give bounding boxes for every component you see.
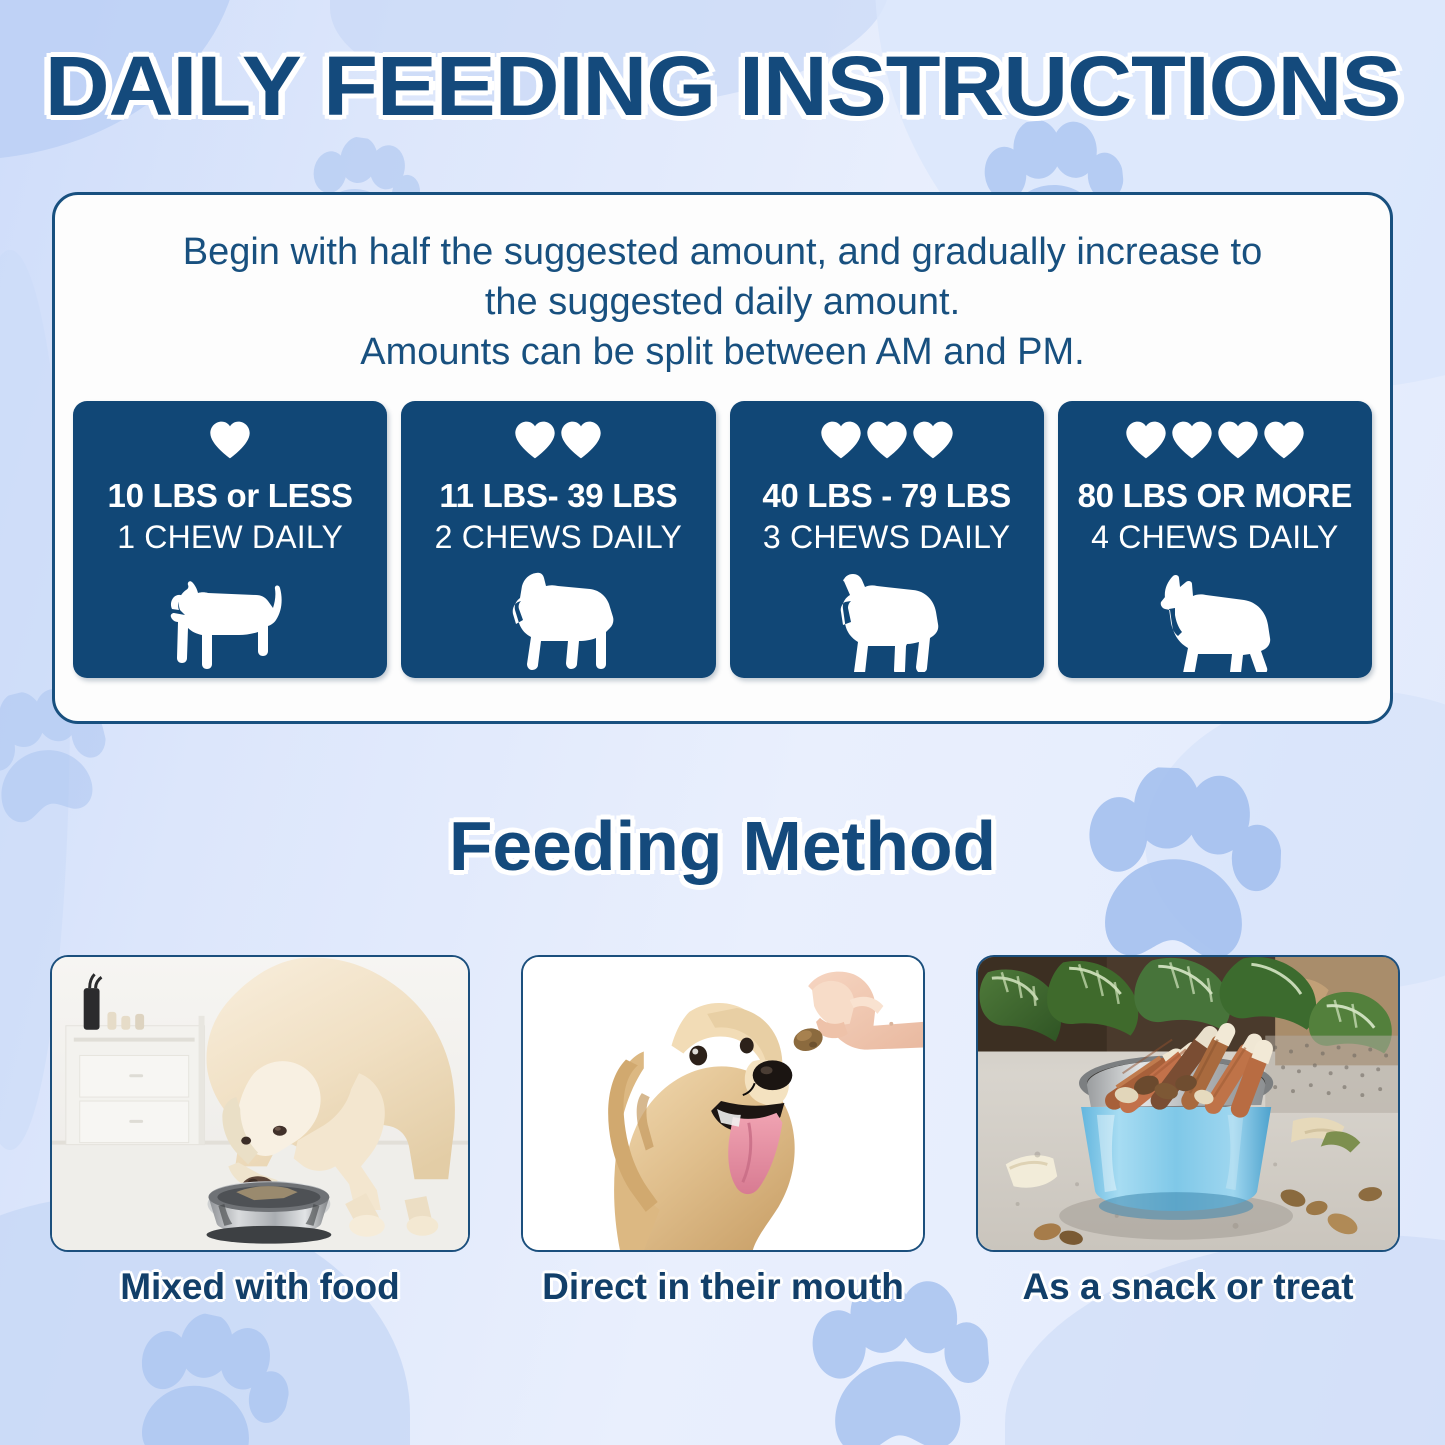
feeding-method-item: Direct in their mouth bbox=[521, 955, 925, 1308]
heart-icon bbox=[1125, 420, 1167, 460]
heart-icon bbox=[1263, 420, 1305, 460]
heart-icon bbox=[912, 420, 954, 460]
dosage-weight-range: 40 LBS - 79 LBS bbox=[762, 477, 1011, 515]
feeding-method-item: Mixed with food bbox=[50, 955, 470, 1308]
dosage-amount: 3 CHEWS DAILY bbox=[763, 519, 1010, 556]
heart-icon bbox=[209, 420, 251, 460]
page-title: DAILY FEEDING INSTRUCTIONS bbox=[0, 38, 1445, 135]
instruction-line-1: Begin with half the suggested amount, an… bbox=[85, 227, 1360, 277]
dosage-weight-range: 10 LBS or LESS bbox=[108, 477, 353, 515]
medium-dog-icon bbox=[478, 568, 638, 672]
feeding-method-caption: Direct in their mouth bbox=[542, 1266, 904, 1308]
instruction-line-3: Amounts can be split between AM and PM. bbox=[85, 327, 1360, 377]
feeding-method-caption: As a snack or treat bbox=[1022, 1266, 1353, 1308]
dosage-card[interactable]: 40 LBS - 79 LBS 3 CHEWS DAILY bbox=[730, 401, 1044, 678]
dosage-weight-range: 80 LBS OR MORE bbox=[1078, 477, 1353, 515]
dosage-weight-range: 11 LBS- 39 LBS bbox=[439, 477, 677, 515]
heart-icon bbox=[1171, 420, 1213, 460]
heart-rating bbox=[1125, 417, 1305, 463]
dosage-card-list: 10 LBS or LESS 1 CHEW DAILY bbox=[73, 401, 1372, 678]
feeding-method-item: As a snack or treat bbox=[976, 955, 1400, 1308]
dosage-card[interactable]: 11 LBS- 39 LBS 2 CHEWS DAILY bbox=[401, 401, 715, 678]
heart-icon bbox=[820, 420, 862, 460]
heart-rating bbox=[209, 417, 251, 463]
feeding-method-list: Mixed with food bbox=[50, 955, 1400, 1308]
dosage-amount: 4 CHEWS DAILY bbox=[1091, 519, 1338, 556]
instructions-panel: Begin with half the suggested amount, an… bbox=[52, 192, 1393, 724]
feeding-instructions-infographic: DAILY FEEDING INSTRUCTIONS Begin with ha… bbox=[0, 0, 1445, 1445]
heart-rating bbox=[514, 417, 602, 463]
heart-icon bbox=[866, 420, 908, 460]
extra-large-dog-icon bbox=[1135, 568, 1295, 672]
instruction-line-2: the suggested daily amount. bbox=[85, 277, 1360, 327]
large-dog-icon bbox=[807, 568, 967, 672]
heart-icon bbox=[560, 420, 602, 460]
heart-rating bbox=[820, 417, 954, 463]
small-dog-icon bbox=[150, 568, 310, 672]
hand-offering-treat-to-spaniel-photo bbox=[521, 955, 925, 1252]
dosage-amount: 1 CHEW DAILY bbox=[117, 519, 343, 556]
instructions-text: Begin with half the suggested amount, an… bbox=[85, 227, 1360, 377]
dosage-card[interactable]: 80 LBS OR MORE 4 CHEWS DAILY bbox=[1058, 401, 1372, 678]
golden-retriever-eating-from-bowl-photo bbox=[50, 955, 470, 1252]
dosage-card[interactable]: 10 LBS or LESS 1 CHEW DAILY bbox=[73, 401, 387, 678]
feeding-method-title: Feeding Method bbox=[0, 806, 1445, 886]
paw-print-icon bbox=[104, 1300, 302, 1445]
heart-icon bbox=[1217, 420, 1259, 460]
blue-bowl-of-chew-sticks-photo bbox=[976, 955, 1400, 1252]
feeding-method-caption: Mixed with food bbox=[120, 1266, 400, 1308]
dosage-amount: 2 CHEWS DAILY bbox=[435, 519, 682, 556]
heart-icon bbox=[514, 420, 556, 460]
